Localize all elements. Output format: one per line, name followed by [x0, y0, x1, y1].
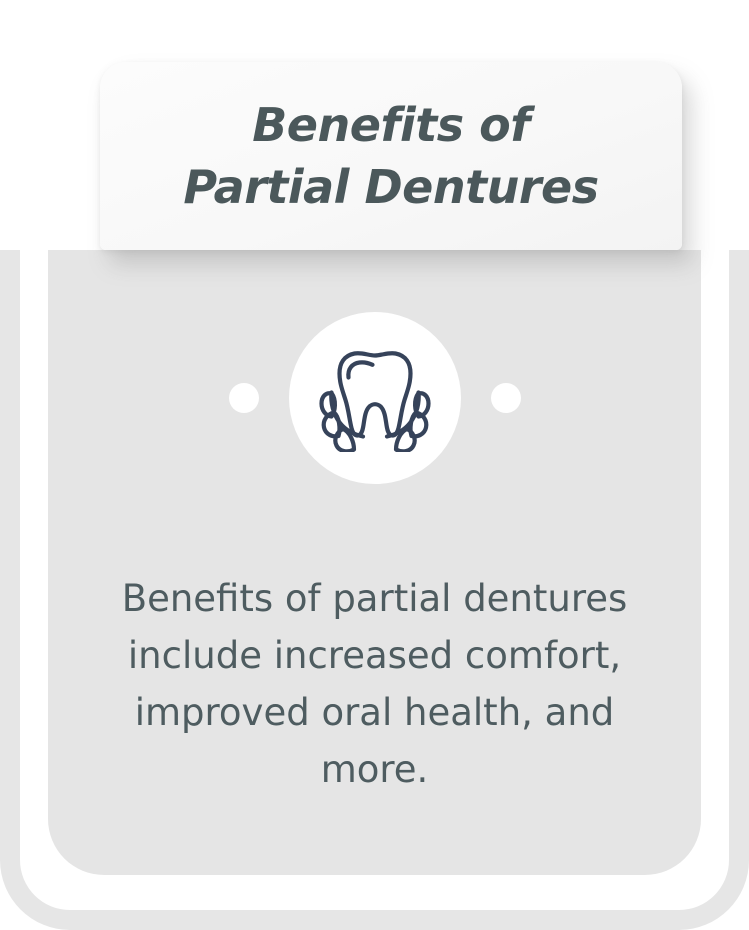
icon-badge	[289, 312, 461, 484]
title-line-2: Partial Dentures	[183, 156, 598, 218]
left-dot-decoration	[229, 383, 259, 413]
title-card: Benefits of Partial Dentures	[100, 62, 682, 250]
card-stage: Benefits of Partial Dentures	[0, 0, 749, 930]
icon-row	[48, 310, 701, 485]
page-title: Benefits of Partial Dentures	[163, 94, 618, 218]
right-dot-decoration	[491, 383, 521, 413]
title-line-1: Benefits of	[183, 94, 598, 156]
card-description: Benefits of partial dentures include inc…	[84, 570, 665, 798]
tooth-laurel-icon	[316, 344, 434, 452]
